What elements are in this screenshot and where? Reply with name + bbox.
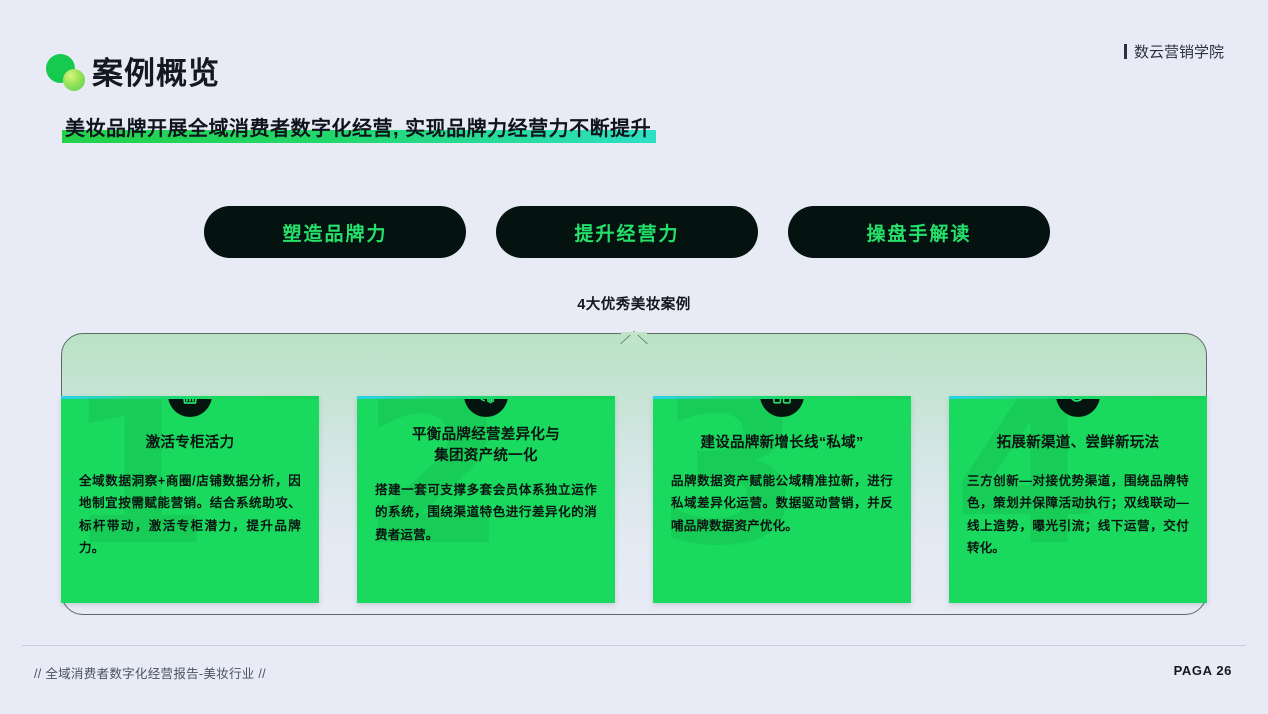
card-title: 拓展新渠道、尝鲜新玩法 — [967, 433, 1189, 454]
case-card-4[interactable]: 4 拓展新渠道、尝鲜新玩法 三方创新—对接优势渠道，围绕品牌特色，策划并保障活动… — [949, 396, 1207, 603]
card-title: 建设品牌新增长线“私域” — [671, 433, 893, 454]
pill-row: 塑造品牌力 提升经营力 操盘手解读 — [204, 206, 1050, 258]
card-body: 平衡品牌经营差异化与 集团资产统一化 搭建一套可支撑多套会员体系独立运作的系统，… — [357, 399, 615, 546]
card-description: 三方创新—对接优势渠道，围绕品牌特色，策划并保障活动执行；双线联动—线上造势，曝… — [967, 470, 1189, 559]
card-title-line-1: 建设品牌新增长线“私域” — [671, 433, 893, 454]
card-description: 全域数据洞察+商圈/店铺数据分析，因地制宜按需赋能营销。结合系统助攻、标杆带动，… — [79, 470, 301, 559]
page-number: PAGA 26 — [1174, 663, 1232, 678]
logo-mark — [44, 52, 92, 94]
brand-tag: 数云营销学院 — [1124, 41, 1224, 62]
case-card-1[interactable]: 1 激活专柜活力 全域数据洞察+商圈/店铺数据分析，因地制宜按需赋能营销。结合系… — [61, 396, 319, 603]
subtitle: 美妆品牌开展全域消费者数字化经营, 实现品牌力经营力不断提升 — [62, 112, 654, 143]
subtitle-text: 美妆品牌开展全域消费者数字化经营, 实现品牌力经营力不断提升 — [65, 118, 651, 140]
footer-report-name: // 全域消费者数字化经营报告-美妆行业 // — [34, 663, 266, 682]
card-description: 搭建一套可支撑多套会员体系独立运作的系统，围绕渠道特色进行差异化的消费者运营。 — [375, 479, 597, 546]
card-title: 激活专柜活力 — [79, 433, 301, 454]
panel-notch-mask — [621, 332, 647, 335]
section-label: 4大优秀美妆案例 — [0, 293, 1268, 314]
footer-divider — [22, 645, 1246, 646]
card-title-line-1: 拓展新渠道、尝鲜新玩法 — [967, 433, 1189, 454]
card-body: 建设品牌新增长线“私域” 品牌数据资产赋能公域精准拉新，进行私域差异化运营。数据… — [653, 399, 911, 537]
brand-bar-icon — [1124, 44, 1127, 59]
case-card-3[interactable]: 3 建设品牌新增长线“私域” 品牌数据资产赋能公域精准拉新，进行私域差异化运营。… — [653, 396, 911, 603]
pill-button-expert-reading[interactable]: 操盘手解读 — [788, 206, 1050, 258]
card-body: 拓展新渠道、尝鲜新玩法 三方创新—对接优势渠道，围绕品牌特色，策划并保障活动执行… — [949, 399, 1207, 559]
pill-button-operation-power[interactable]: 提升经营力 — [496, 206, 758, 258]
slide-root: 案例概览 数云营销学院 美妆品牌开展全域消费者数字化经营, 实现品牌力经营力不断… — [0, 0, 1268, 714]
pill-button-brand-power[interactable]: 塑造品牌力 — [204, 206, 466, 258]
card-title-line-1: 平衡品牌经营差异化与 — [375, 425, 597, 446]
card-title-line-1: 激活专柜活力 — [79, 433, 301, 454]
case-card-2[interactable]: 2 平衡品牌经营差异化与 集团资产统一化 搭建一套可支撑多套会员体系独立运作的系… — [357, 396, 615, 603]
logo-circle-small — [63, 69, 85, 91]
card-description: 品牌数据资产赋能公域精准拉新，进行私域差异化运营。数据驱动营销，并反哺品牌数据资… — [671, 470, 893, 537]
card-title: 平衡品牌经营差异化与 集团资产统一化 — [375, 425, 597, 467]
brand-name: 数云营销学院 — [1134, 41, 1224, 62]
card-body: 激活专柜活力 全域数据洞察+商圈/店铺数据分析，因地制宜按需赋能营销。结合系统助… — [61, 399, 319, 559]
page-title: 案例概览 — [92, 48, 220, 93]
case-card-list: 1 激活专柜活力 全域数据洞察+商圈/店铺数据分析，因地制宜按需赋能营销。结合系… — [61, 396, 1207, 603]
card-title-line-2: 集团资产统一化 — [375, 446, 597, 467]
